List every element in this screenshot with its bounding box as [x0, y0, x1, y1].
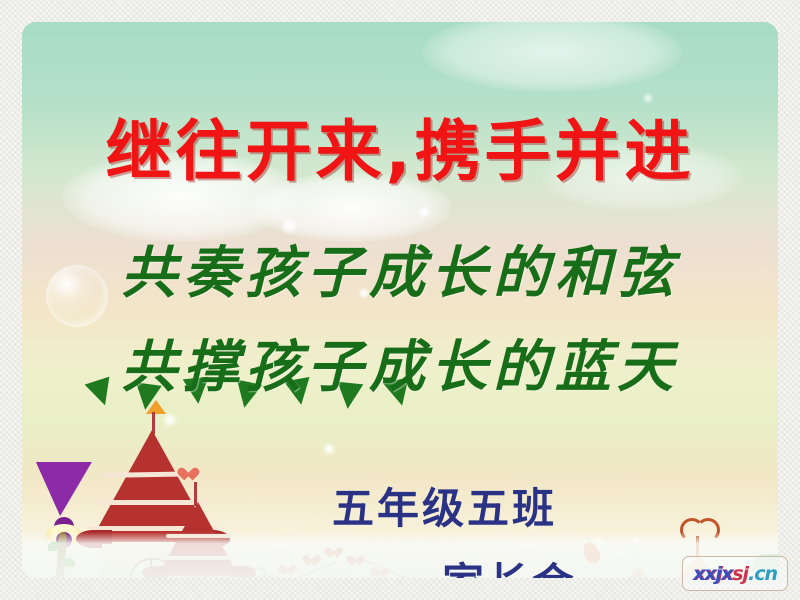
slide-green-line-1: 共奏孩子成长的和弦 — [22, 228, 778, 309]
cloud-icon — [422, 22, 682, 92]
bottom-ground-band — [22, 532, 778, 578]
sparkle-icon — [417, 205, 431, 219]
slide-subtitle-event: 家长会 — [442, 550, 577, 578]
watermark-badge: xxjxsj.cn — [682, 556, 788, 591]
watermark-text-c: .cn — [748, 563, 777, 585]
slide-content-area: 继往开来,携手并进 共奏孩子成长的和弦 共撑孩子成长的蓝天 五年级五班 家长会 — [22, 22, 778, 578]
slide-green-line-2: 共撑孩子成长的蓝天 — [22, 322, 778, 403]
slide-canvas: 继往开来,携手并进 共奏孩子成长的和弦 共撑孩子成长的蓝天 五年级五班 家长会 … — [0, 0, 800, 600]
watermark-text-b: sj — [732, 563, 748, 585]
slide-subtitle-class: 五年级五班 — [332, 475, 557, 536]
sparkle-icon — [322, 442, 336, 456]
slide-title: 继往开来,携手并进 — [22, 98, 778, 194]
watermark-text-a: xxjx — [693, 563, 732, 585]
